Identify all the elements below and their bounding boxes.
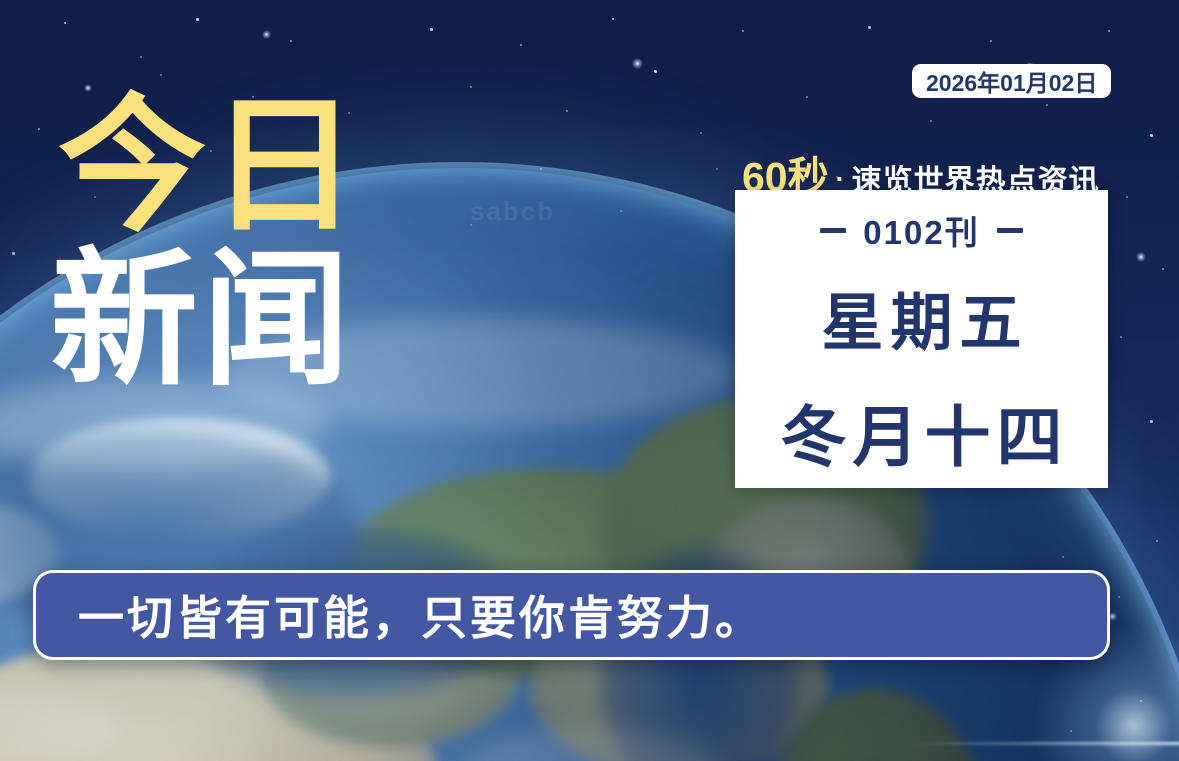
- watermark: sabcb: [470, 196, 555, 227]
- dash-right-icon: [997, 228, 1023, 233]
- page-title: 今日 新闻: [58, 96, 362, 392]
- headline-line-2: 新闻: [50, 250, 362, 392]
- issue-number-row: 0102刊: [820, 206, 1022, 254]
- headline-line-1: 今日: [58, 96, 362, 238]
- news-poster: sabcb 今日 新闻 2026年01月02日 60秒 · 速览世界热点资讯 0…: [0, 0, 1179, 761]
- quote-bar: 一切皆有可能，只要你肯努力。: [33, 570, 1110, 660]
- issue-number: 0102刊: [863, 206, 979, 254]
- dash-left-icon: [820, 228, 846, 233]
- quote-text: 一切皆有可能，只要你肯努力。: [78, 582, 764, 648]
- date-badge: 2026年01月02日: [912, 64, 1111, 98]
- lens-flare-streak: [909, 742, 1179, 745]
- lunar-date-label: 冬月十四: [775, 384, 1069, 480]
- date-info-card: 0102刊 星期五 冬月十四: [735, 190, 1108, 488]
- weekday-label: 星期五: [814, 272, 1028, 362]
